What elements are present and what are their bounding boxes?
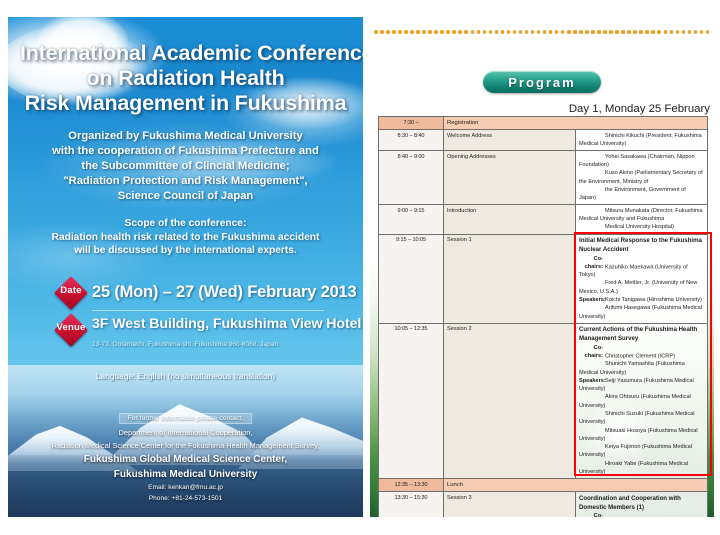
decorative-dot xyxy=(495,30,499,34)
venue-text-group: 3F West Building, Fukushima View Hotel 1… xyxy=(92,315,361,351)
decorative-dot xyxy=(676,30,680,34)
decorative-dot xyxy=(682,30,686,34)
row-time: 7:30 – xyxy=(379,117,444,130)
role-label-spacer xyxy=(579,223,603,231)
participant-line: the Environment, Government of Japan) xyxy=(579,186,704,203)
role-label-spacer xyxy=(579,360,603,368)
row-content: Initial Medical Response to the Fukushim… xyxy=(576,234,708,323)
table-row: 8:40 – 9:00Opening Addresses Yohei Sasak… xyxy=(379,151,708,205)
venue-label: Venue xyxy=(56,322,86,333)
organizer-line: the Subcommittee of Clincial Medicine; xyxy=(18,159,353,174)
organizer-line: Organized by Fukushima Medical Universit… xyxy=(18,129,353,144)
participant-line: Co-chairs:Kazuhiko Maekawa (University o… xyxy=(579,255,704,280)
poster-title-line: on Radiation Health xyxy=(20,66,351,91)
row-content: Current Actions of the Fukushima Health … xyxy=(576,323,708,478)
decorative-dot xyxy=(452,30,456,34)
decorative-dot xyxy=(549,30,553,34)
decorative-dot xyxy=(471,30,475,34)
decorative-dot xyxy=(700,30,704,34)
row-time: 9:00 – 9:15 xyxy=(379,205,444,234)
decorative-dot xyxy=(404,30,408,34)
decorative-dot xyxy=(531,30,535,34)
decorative-dot xyxy=(380,30,384,34)
program-table: 7:30 –Registration8:30 – 8:40Welcome Add… xyxy=(378,116,708,517)
role-label-spacer xyxy=(579,393,603,401)
decorative-dot xyxy=(633,30,637,34)
date-value: 25 (Mon) – 27 (Wed) February 2013 xyxy=(92,283,357,302)
role-label-spacer xyxy=(579,443,603,451)
dotted-rule-decoration xyxy=(374,30,710,36)
participant-line: Akira Ohtsuru (Fukushima Medical Univers… xyxy=(579,393,704,410)
contact-badge: For further information please contact: xyxy=(119,413,253,424)
decorative-dot xyxy=(422,30,426,34)
decorative-dot xyxy=(416,30,420,34)
table-row: 13:30 – 15:30Session 3Coordination and C… xyxy=(379,492,708,517)
role-label: Co-chairs: xyxy=(579,344,603,361)
program-page: Program Day 1, Monday 25 February 7:30 –… xyxy=(370,17,714,517)
organizer-line: with the cooperation of Fukushima Prefec… xyxy=(18,144,353,159)
participant-line: Shunichi Yamashita (Fukushima Medical Un… xyxy=(579,360,704,377)
decorative-dot xyxy=(645,30,649,34)
decorative-dot xyxy=(591,30,595,34)
session-title: Coordination and Cooperation with Domest… xyxy=(579,494,704,512)
decorative-dot xyxy=(567,30,571,34)
row-break-label: Lunch xyxy=(444,479,708,492)
participant-line: Yohei Sasakawa (Chairman, Nippon Foundat… xyxy=(579,153,704,170)
venue-row: Venue 3F West Building, Fukushima View H… xyxy=(56,315,324,349)
date-row: Date 25 (Mon) – 27 (Wed) February 2013 xyxy=(56,278,324,308)
role-label-spacer xyxy=(579,186,603,194)
decorative-dot xyxy=(386,30,390,34)
language-note: Language: English (no simultaneous trans… xyxy=(18,371,353,381)
row-content: Mitsuru Munakata (Director, Fukushima Me… xyxy=(576,205,708,234)
row-session: Session 3 xyxy=(444,492,576,517)
decorative-dot xyxy=(440,30,444,34)
decorative-dot xyxy=(609,30,613,34)
contact-phone: Phone: +81-24-573-1501 xyxy=(8,494,363,503)
decorative-dot xyxy=(434,30,438,34)
session-title: Initial Medical Response to the Fukushim… xyxy=(579,236,704,254)
decorative-dot xyxy=(573,30,577,34)
program-badge: Program xyxy=(483,71,601,93)
decorative-dot xyxy=(555,30,559,34)
decorative-dot xyxy=(464,30,468,34)
participant-line: Co-chairs:Christopher Clement (ICRP) xyxy=(579,344,704,361)
scope-line: Scope of the conference: xyxy=(18,217,353,230)
role-label-spacer xyxy=(579,460,603,468)
divider xyxy=(92,310,324,311)
participant-line: Medical University Hospital) xyxy=(579,223,704,231)
organizer-line: Science Council of Japan xyxy=(18,189,353,204)
role-label: Speakers: xyxy=(579,377,603,385)
scanned-page-spread: International Academic Conference on Rad… xyxy=(0,0,720,535)
decorative-dot xyxy=(639,30,643,34)
row-session: Welcome Address xyxy=(444,130,576,151)
role-label-spacer xyxy=(579,169,603,177)
row-time: 10:05 – 12:35 xyxy=(379,323,444,478)
poster-organizer: Organized by Fukushima Medical Universit… xyxy=(18,129,353,204)
role-label-spacer xyxy=(579,410,603,418)
role-label-spacer xyxy=(579,153,603,161)
row-session: Opening Addresses xyxy=(444,151,576,205)
role-label-spacer xyxy=(579,207,603,215)
contact-dept: Department of International Cooperation, xyxy=(8,428,363,438)
row-session: Session 1 xyxy=(444,234,576,323)
decorative-dot xyxy=(428,30,432,34)
decorative-dot xyxy=(489,30,493,34)
date-diamond-icon: Date xyxy=(56,278,86,308)
decorative-dot xyxy=(670,30,674,34)
decorative-dot xyxy=(458,30,462,34)
participant-line: Shinichi Kikuchi (President, Fukushima M… xyxy=(579,132,704,149)
decorative-dot xyxy=(706,30,710,34)
decorative-dot xyxy=(561,30,565,34)
venue-value: 3F West Building, Fukushima View Hotel xyxy=(92,316,361,332)
row-content: Shinichi Kikuchi (President, Fukushima M… xyxy=(576,130,708,151)
participant-line: Speakers:Koichi Tanigawa (Hiroshima Univ… xyxy=(579,296,704,304)
decorative-dot xyxy=(651,30,655,34)
session-title: Current Actions of the Fukushima Health … xyxy=(579,325,704,343)
scope-line: will be discussed by the international e… xyxy=(18,244,353,257)
contact-center-long: Radiation Medical Science Center for the… xyxy=(8,441,363,451)
conference-poster: International Academic Conference on Rad… xyxy=(8,17,363,517)
decorative-dot xyxy=(664,30,668,34)
row-time: 8:40 – 9:00 xyxy=(379,151,444,205)
row-time: 8:30 – 8:40 xyxy=(379,130,444,151)
participant-name: Koichi Tanigawa (Hiroshima University) xyxy=(605,297,702,303)
decorative-dot xyxy=(525,30,529,34)
role-label: Co-chairs: xyxy=(579,255,603,272)
table-row: 9:15 – 10:05Session 1Initial Medical Res… xyxy=(379,234,708,323)
contact-center: Fukushima Global Medical Science Center, xyxy=(8,453,363,466)
participant-line: Shinichi Suzuki (Fukushima Medical Unive… xyxy=(579,410,704,427)
venue-address: 13-73, Ootamachi, Fukushima-shi, Fukushi… xyxy=(92,341,278,348)
decorative-dot xyxy=(398,30,402,34)
participant-line: Arifumi Hasegawa (Fukushima Medical Univ… xyxy=(579,304,704,321)
participant-line: Hiroaki Yabe (Fukushima Medical Universi… xyxy=(579,460,704,477)
contact-email[interactable]: Email: kenkan@fmu.ac.jp xyxy=(8,483,363,492)
role-label-spacer xyxy=(579,427,603,435)
decorative-dot xyxy=(410,30,414,34)
participant-line: Speakers:Seiji Yasumura (Fukushima Medic… xyxy=(579,377,704,394)
role-label: Co-chairs: xyxy=(579,512,603,517)
contact-university: Fukushima Medical University xyxy=(8,468,363,481)
decorative-dot xyxy=(603,30,607,34)
scope-line: Radiation health risk related to the Fuk… xyxy=(18,231,353,244)
participant-line: Fred A. Mettler, Jr. (University of New … xyxy=(579,279,704,296)
poster-title: International Academic Conference on Rad… xyxy=(20,41,351,116)
row-time: 13:30 – 15:30 xyxy=(379,492,444,517)
participant-line: Mitsuru Munakata (Director, Fukushima Me… xyxy=(579,207,704,224)
mountain-photo: For further information please contact: … xyxy=(8,365,363,517)
decorative-dot xyxy=(597,30,601,34)
organizer-line: "Radiation Protection and Risk Managemen… xyxy=(18,174,353,189)
row-time: 12:35 – 13:30 xyxy=(379,479,444,492)
table-row: 8:30 – 8:40Welcome Address Shinichi Kiku… xyxy=(379,130,708,151)
decorative-dot xyxy=(657,30,661,34)
date-label: Date xyxy=(56,285,86,296)
participant-line: Keiya Fujimori (Fukushima Medical Univer… xyxy=(579,443,704,460)
row-time: 9:15 – 10:05 xyxy=(379,234,444,323)
venue-diamond-icon: Venue xyxy=(56,315,86,345)
decorative-dot xyxy=(537,30,541,34)
decorative-dot xyxy=(543,30,547,34)
decorative-dot xyxy=(627,30,631,34)
role-label-spacer xyxy=(579,279,603,287)
decorative-dot xyxy=(579,30,583,34)
decorative-dot xyxy=(446,30,450,34)
participant-line: Mitsuaki Hosoya (Fukushima Medical Unive… xyxy=(579,427,704,444)
role-label-spacer xyxy=(579,132,603,140)
program-badge-label: Program xyxy=(508,75,575,90)
participant-name: Medical University Hospital) xyxy=(605,224,674,230)
decorative-dot xyxy=(507,30,511,34)
poster-title-line: Risk Management in Fukushima xyxy=(20,91,351,116)
decorative-dot xyxy=(621,30,625,34)
table-row: 7:30 –Registration xyxy=(379,117,708,130)
table-row: 12:35 – 13:30Lunch xyxy=(379,479,708,492)
decorative-dot xyxy=(483,30,487,34)
row-content: Yohei Sasakawa (Chairman, Nippon Foundat… xyxy=(576,151,708,205)
participant-name: Christopher Clement (ICRP) xyxy=(605,353,675,359)
contact-block: For further information please contact: … xyxy=(8,407,363,503)
poster-scope: Scope of the conference: Radiation healt… xyxy=(18,217,353,257)
table-row: 9:00 – 9:15Introduction Mitsuru Munakata… xyxy=(379,205,708,234)
row-session: Introduction xyxy=(444,205,576,234)
row-break-label: Registration xyxy=(444,117,708,130)
decorative-dot xyxy=(392,30,396,34)
participant-line: Kuso Akino (Parliamentary Secretary of t… xyxy=(579,169,704,186)
table-row: 10:05 – 12:35Session 2Current Actions of… xyxy=(379,323,708,478)
decorative-dot xyxy=(501,30,505,34)
poster-title-line: International Academic Conference xyxy=(20,41,351,66)
role-label-spacer xyxy=(579,304,603,312)
decorative-dot xyxy=(585,30,589,34)
decorative-dot xyxy=(374,30,378,34)
decorative-dot xyxy=(477,30,481,34)
role-label: Speakers: xyxy=(579,296,603,304)
decorative-dot xyxy=(694,30,698,34)
participant-line: Co-chairs:André Bouville (U.S. National … xyxy=(579,512,704,517)
decorative-dot xyxy=(615,30,619,34)
row-content: Coordination and Cooperation with Domest… xyxy=(576,492,708,517)
date-venue-block: Date 25 (Mon) – 27 (Wed) February 2013 V… xyxy=(56,278,324,349)
decorative-dot xyxy=(688,30,692,34)
day-heading: Day 1, Monday 25 February xyxy=(569,103,710,115)
decorative-dot xyxy=(513,30,517,34)
decorative-dot xyxy=(519,30,523,34)
row-session: Session 2 xyxy=(444,323,576,478)
